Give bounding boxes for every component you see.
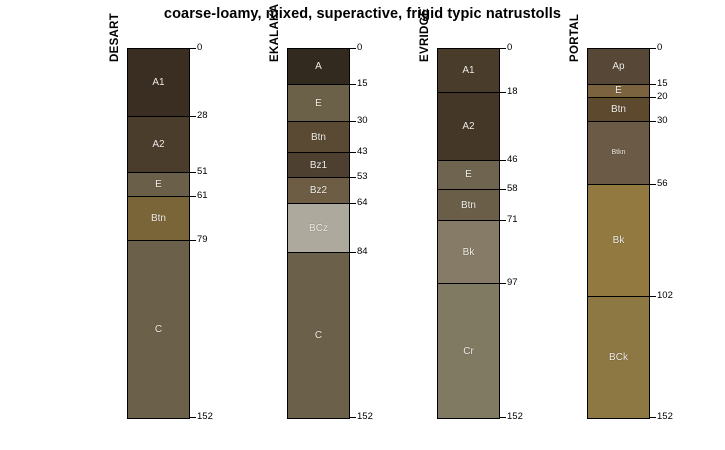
horizon-label: Btn — [461, 200, 476, 211]
depth-tick-label: 15 — [357, 78, 368, 89]
depth-tick — [499, 189, 506, 190]
horizon-ap[interactable]: Ap — [588, 49, 649, 85]
horizon-bz1[interactable]: Bz1 — [288, 153, 349, 177]
depth-tick-label: 0 — [507, 42, 512, 53]
depth-tick — [349, 252, 356, 253]
horizon-label: A — [315, 61, 322, 72]
depth-tick-label: 102 — [657, 290, 673, 301]
depth-tick — [189, 196, 196, 197]
horizon-label: Bz2 — [310, 185, 327, 196]
horizon-e[interactable]: E — [438, 161, 499, 190]
depth-tick-label: 71 — [507, 214, 518, 225]
profile-column[interactable]: A1A2EBtnBkCr — [437, 48, 500, 419]
horizon-label: A2 — [152, 139, 164, 150]
horizon-c[interactable]: C — [288, 253, 349, 418]
depth-tick-label: 30 — [357, 115, 368, 126]
depth-tick — [349, 203, 356, 204]
depth-tick — [649, 121, 656, 122]
depth-tick — [499, 417, 506, 418]
horizon-label: Bz1 — [310, 160, 327, 171]
depth-tick — [649, 184, 656, 185]
depth-tick-label: 152 — [657, 411, 673, 422]
horizon-a[interactable]: A — [288, 49, 349, 85]
depth-tick-label: 97 — [507, 277, 518, 288]
depth-tick — [189, 417, 196, 418]
depth-tick-label: 18 — [507, 86, 518, 97]
profile-column[interactable]: AEBtnBz1Bz2BCzC — [287, 48, 350, 419]
depth-tick-label: 28 — [197, 110, 208, 121]
horizon-btn[interactable]: Btn — [288, 122, 349, 154]
horizon-label: Bk — [463, 247, 475, 258]
horizon-label: A1 — [152, 77, 164, 88]
depth-tick-label: 64 — [357, 197, 368, 208]
horizon-label: E — [155, 179, 162, 190]
depth-tick — [499, 283, 506, 284]
horizon-a2[interactable]: A2 — [438, 93, 499, 161]
depth-tick-label: 0 — [197, 42, 202, 53]
depth-tick-label: 152 — [507, 411, 523, 422]
horizon-label: Cr — [463, 346, 474, 357]
depth-tick-label: 30 — [657, 115, 668, 126]
site-name-label: PORTAL — [569, 14, 581, 62]
depth-tick-label: 20 — [657, 91, 668, 102]
horizon-bcz[interactable]: BCz — [288, 204, 349, 253]
horizon-label: Ap — [612, 61, 624, 72]
depth-tick — [499, 160, 506, 161]
depth-tick — [189, 48, 196, 49]
horizon-label: E — [465, 169, 472, 180]
depth-tick — [649, 296, 656, 297]
horizon-label: Btn — [611, 104, 626, 115]
horizon-label: E — [315, 98, 322, 109]
horizon-label: C — [315, 330, 322, 341]
depth-tick — [649, 84, 656, 85]
depth-tick-label: 84 — [357, 246, 368, 257]
horizon-label: Btkn — [611, 149, 625, 156]
depth-tick-label: 79 — [197, 234, 208, 245]
horizon-a2[interactable]: A2 — [128, 117, 189, 173]
depth-tick — [499, 48, 506, 49]
site-name-label: EVRIDGE — [419, 8, 431, 62]
depth-tick-label: 15 — [657, 78, 668, 89]
depth-tick-label: 51 — [197, 166, 208, 177]
horizon-btn[interactable]: Btn — [128, 197, 189, 241]
depth-tick — [649, 417, 656, 418]
profile-column[interactable]: ApEBtnBtknBkBCk — [587, 48, 650, 419]
horizon-label: Btn — [311, 132, 326, 143]
soil-profile-chart: coarse-loamy, mixed, superactive, frigid… — [0, 0, 725, 450]
horizon-btn[interactable]: Btn — [438, 190, 499, 222]
depth-tick — [349, 152, 356, 153]
depth-tick-label: 0 — [657, 42, 662, 53]
horizon-btn[interactable]: Btn — [588, 98, 649, 122]
depth-tick-label: 0 — [357, 42, 362, 53]
horizon-e[interactable]: E — [288, 85, 349, 121]
depth-tick — [499, 220, 506, 221]
depth-tick-label: 56 — [657, 178, 668, 189]
horizon-label: A1 — [462, 65, 474, 76]
horizon-c[interactable]: C — [128, 241, 189, 418]
horizon-label: Btn — [151, 213, 166, 224]
depth-tick — [349, 84, 356, 85]
depth-tick — [349, 417, 356, 418]
horizon-label: BCk — [609, 352, 628, 363]
depth-tick-label: 58 — [507, 183, 518, 194]
depth-tick-label: 152 — [357, 411, 373, 422]
depth-tick — [499, 92, 506, 93]
depth-tick — [349, 121, 356, 122]
horizon-label: C — [155, 324, 162, 335]
depth-tick-label: 61 — [197, 190, 208, 201]
depth-tick — [649, 97, 656, 98]
horizon-bck[interactable]: BCk — [588, 297, 649, 418]
horizon-label: Bk — [613, 235, 625, 246]
depth-tick-label: 53 — [357, 171, 368, 182]
depth-tick — [189, 240, 196, 241]
horizon-e[interactable]: E — [128, 173, 189, 197]
depth-tick — [349, 48, 356, 49]
depth-tick — [349, 177, 356, 178]
horizon-e[interactable]: E — [588, 85, 649, 97]
depth-tick — [189, 172, 196, 173]
depth-tick — [649, 48, 656, 49]
depth-tick-label: 152 — [197, 411, 213, 422]
horizon-label: E — [615, 85, 622, 96]
depth-tick — [189, 116, 196, 117]
horizon-btkn[interactable]: Btkn — [588, 122, 649, 185]
horizon-a1[interactable]: A1 — [128, 49, 189, 117]
horizon-a1[interactable]: A1 — [438, 49, 499, 93]
depth-tick-label: 43 — [357, 146, 368, 157]
horizon-bk[interactable]: Bk — [438, 221, 499, 284]
horizon-label: A2 — [462, 121, 474, 132]
profile-column[interactable]: A1A2EBtnC — [127, 48, 190, 419]
horizon-bz2[interactable]: Bz2 — [288, 178, 349, 205]
depth-tick-label: 46 — [507, 154, 518, 165]
horizon-bk[interactable]: Bk — [588, 185, 649, 297]
horizon-label: BCz — [309, 223, 328, 234]
horizon-cr[interactable]: Cr — [438, 284, 499, 418]
site-name-label: EKALAKA — [269, 4, 281, 62]
site-name-label: DESART — [109, 13, 121, 62]
